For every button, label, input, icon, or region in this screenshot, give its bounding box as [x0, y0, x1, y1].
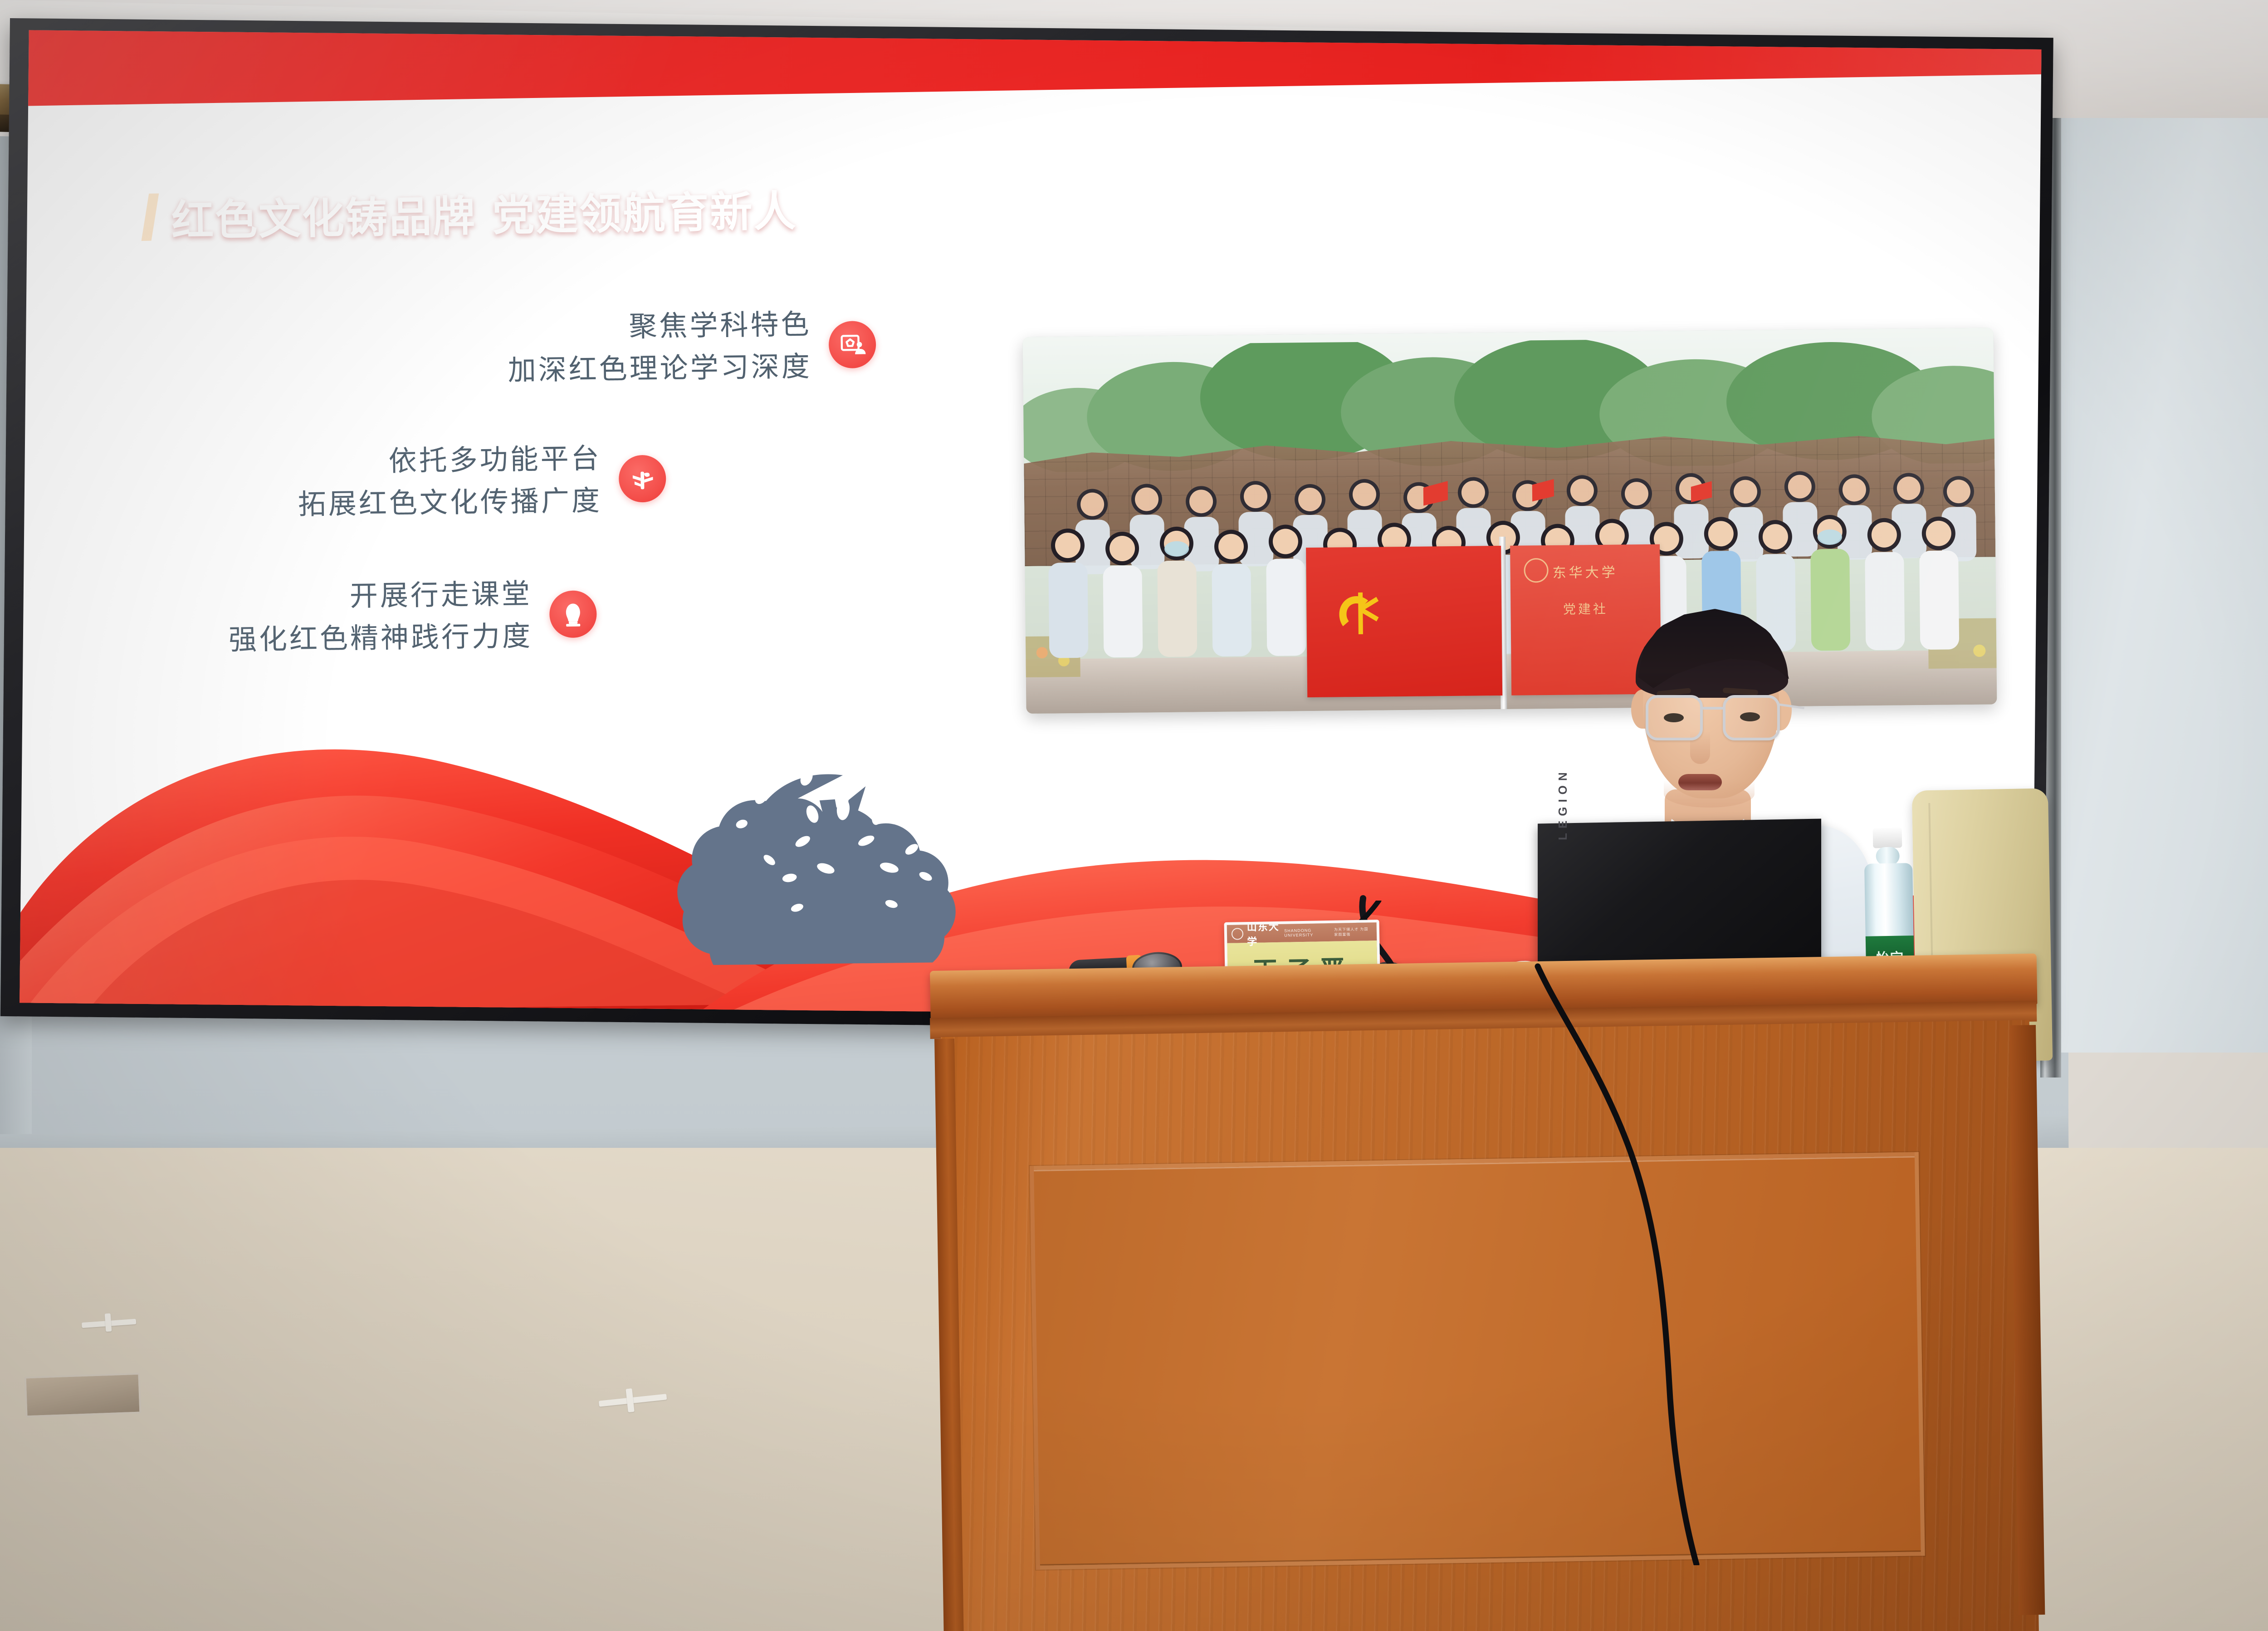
bullet-item-3: 开展行走课堂 强化红色精神践行力度 [228, 572, 597, 661]
nameplate-org-cn: 山东大学 [1246, 920, 1280, 948]
laptop-power-cable [1533, 962, 1769, 1565]
nameplate-header: 山东大学 SHANDONG UNIVERSITY 为天下储人才 为国家图富强 [1227, 922, 1377, 943]
laptop-brand: LEGION [1556, 768, 1570, 840]
party-flag [1306, 546, 1502, 697]
bullet-item-2: 依托多功能平台 拓展红色文化传播广度 [297, 436, 666, 525]
bullet-2-line-2: 拓展红色文化传播广度 [298, 479, 602, 525]
bullet-1-line-1: 聚焦学科特色 [507, 303, 811, 349]
conference-hall-scene: 东华大学 DONGHUA UNIVERSITY 红色文化铸品牌 党建领航育新人 [0, 0, 2268, 1631]
nameplate-org-en: SHANDONG UNIVERSITY [1284, 928, 1328, 938]
floor-power-outlet[interactable] [24, 1373, 142, 1418]
eyeglasses-icon [1643, 695, 1784, 743]
bullet-3-line-2: 强化红色精神践行力度 [228, 615, 533, 661]
nameplate-motto: 为天下储人才 为国家图富强 [1334, 926, 1372, 937]
floor-tape-mark-1 [81, 1312, 137, 1333]
desk-inset-panel [1030, 1152, 1925, 1570]
right-wall-panel [2048, 54, 2268, 1053]
shandong-seal-icon [1232, 928, 1243, 940]
sprout-icon [619, 455, 666, 502]
mouth [1678, 774, 1722, 790]
bullet-item-1: 聚焦学科特色 加深红色理论学习深度 [507, 302, 876, 392]
bullet-2-line-1: 依托多功能平台 [297, 437, 601, 483]
bullet-3-line-1: 开展行走课堂 [228, 573, 532, 619]
knowledge-card-icon [828, 321, 876, 368]
bottle-cap [1873, 828, 1902, 848]
bottle-neck [1876, 847, 1900, 866]
podium-desk [934, 971, 2032, 1631]
bullet-1-line-2: 加深红色理论学习深度 [508, 345, 812, 392]
monument-icon [549, 590, 597, 638]
